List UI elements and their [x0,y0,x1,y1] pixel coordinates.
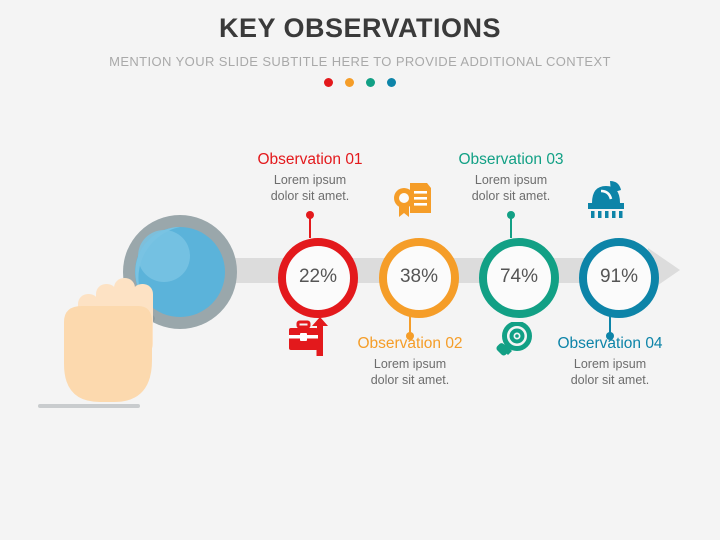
observation-desc-line1-04: Lorem ipsum [520,356,700,372]
percent-value-03: 74% [500,266,538,288]
observation-desc-line1-02: Lorem ipsum [320,356,500,372]
observation-desc-line2-04: dolor sit amet. [520,372,700,388]
observation-block-03: Observation 03 Lorem ipsum dolor sit ame… [421,150,601,204]
header-dot-blue [387,78,396,87]
observation-desc-line2-02: dolor sit amet. [320,372,500,388]
observation-title-04: Observation 04 [520,334,700,353]
connector-01 [309,215,311,238]
slide-header: KEY OBSERVATIONS MENTION YOUR SLIDE SUBT… [0,12,720,87]
observation-title-02: Observation 02 [320,334,500,353]
percent-circle-01[interactable]: 22% [278,238,358,318]
percent-value-02: 38% [400,266,438,288]
connector-03 [510,215,512,238]
connector-dot-03 [507,211,515,219]
observation-desc-02: Lorem ipsum dolor sit amet. [320,356,500,388]
hand-shadow [38,404,140,408]
hand-palm [64,306,152,402]
header-dot-red [324,78,333,87]
header-dot-orange [345,78,354,87]
slide-canvas: KEY OBSERVATIONS MENTION YOUR SLIDE SUBT… [0,0,720,540]
observation-desc-04: Lorem ipsum dolor sit amet. [520,356,700,388]
observation-desc-03: Lorem ipsum dolor sit amet. [421,172,601,204]
connector-04 [609,312,611,336]
percent-circle-04[interactable]: 91% [579,238,659,318]
hand-holding-magnifier [30,210,260,415]
observation-desc-line2-01: dolor sit amet. [220,188,400,204]
observation-block-04: Observation 04 Lorem ipsum dolor sit ame… [520,334,700,388]
observation-title-03: Observation 03 [421,150,601,169]
observation-block-02: Observation 02 Lorem ipsum dolor sit ame… [320,334,500,388]
percent-value-01: 22% [299,266,337,288]
observation-desc-line1-01: Lorem ipsum [220,172,400,188]
page-title: KEY OBSERVATIONS [0,12,720,44]
connector-dot-01 [306,211,314,219]
observation-desc-line1-03: Lorem ipsum [421,172,601,188]
page-subtitle: MENTION YOUR SLIDE SUBTITLE HERE TO PROV… [0,54,720,69]
percent-circle-02[interactable]: 38% [379,238,459,318]
percent-value-04: 91% [600,266,638,288]
observation-title-01: Observation 01 [220,150,400,169]
header-dot-teal [366,78,375,87]
observation-desc-line2-03: dolor sit amet. [421,188,601,204]
percent-circle-03[interactable]: 74% [479,238,559,318]
observation-desc-01: Lorem ipsum dolor sit amet. [220,172,400,204]
header-dot-group [0,78,720,87]
connector-02 [409,312,411,336]
magnifier-lens-gloss [138,230,190,282]
observation-block-01: Observation 01 Lorem ipsum dolor sit ame… [220,150,400,204]
observatory-dome-icon [585,178,627,220]
